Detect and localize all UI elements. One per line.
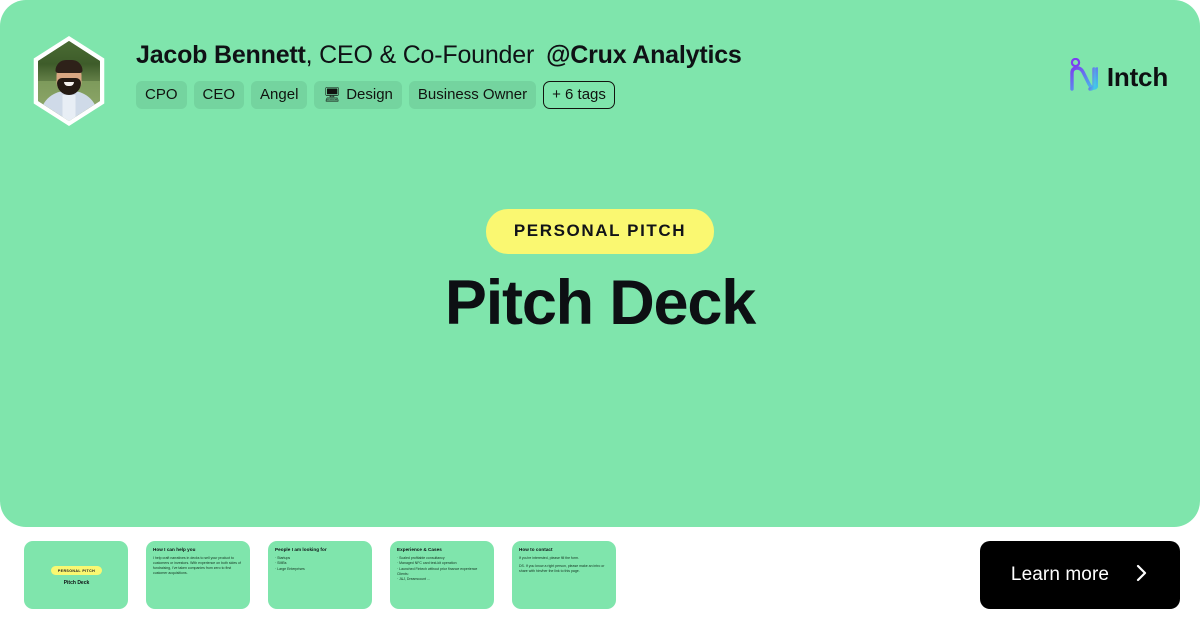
thumbnail-cover-content: PERSONAL PITCH Pitch Deck [31,547,122,605]
thumbnail-bullet: · J&J, Dreamcount ... [397,577,488,582]
profile-header: Jacob Bennett, CEO & Co-Founder@Crux Ana… [28,36,742,126]
profile-name-line: Jacob Bennett, CEO & Co-Founder@Crux Ana… [136,42,742,70]
tag-business-owner[interactable]: Business Owner [409,81,536,109]
tag-label: Angel [260,87,298,102]
computer-icon: 🖥 [323,87,341,101]
thumbnail-bullet-label: Managed NFC card test-kit operation [399,561,456,565]
personal-pitch-badge: PERSONAL PITCH [486,209,714,254]
intch-n-logo-icon [1068,58,1098,97]
brand-name: Intch [1107,62,1168,93]
tag-label: CPO [145,87,178,102]
profile-role: , CEO & Co-Founder [306,41,534,69]
avatar-hair-icon [56,60,83,73]
more-tags-button[interactable]: + 6 tags [543,81,615,109]
learn-more-button[interactable]: Learn more [980,541,1180,609]
thumbnail-bullet-label: Scaled profitable consultancy [399,556,445,560]
profile-name: Jacob Bennett [136,41,306,69]
hero-card: Jacob Bennett, CEO & Co-Founder@Crux Ana… [0,0,1200,527]
avatar[interactable] [28,36,110,126]
learn-more-label: Learn more [1011,564,1109,586]
slide-thumbnail-people-looking-for[interactable]: People I am looking for · Startups · SMB… [268,541,372,609]
thumbnail-bullet-label: J&J, Dreamcount ... [399,577,430,581]
profile-tag-list: CPO CEO Angel 🖥 Design Business Owner + … [136,81,742,109]
thumbnail-paragraph: If you're interested, please fill the fo… [519,556,610,561]
thumbnail-bullet: · Large Enterprises [275,567,366,572]
thumbnail-heading: How I can help you [153,547,244,553]
tag-label: Design [346,87,393,102]
thumbnail-bullet-label: Clients: [397,572,409,576]
avatar-hex-frame [28,36,110,126]
thumbnail-bullet: · Launched Fintech without prior finance… [397,567,488,572]
thumbnail-bullet-label: SMBs [277,561,286,565]
page-title: Pitch Deck [0,270,1200,336]
tag-ceo[interactable]: CEO [194,81,245,109]
profile-company[interactable]: @Crux Analytics [546,41,742,69]
slide-thumbnail-experience-cases[interactable]: Experience & Cases · Scaled profitable c… [390,541,494,609]
thumbnail-heading: How to contact [519,547,610,553]
thumbnail-heading: Experience & Cases [397,547,488,553]
slide-thumbnail-strip: PERSONAL PITCH Pitch Deck How I can help… [24,541,616,609]
tag-cpo[interactable]: CPO [136,81,187,109]
avatar-photo [33,41,105,121]
profile-header-text: Jacob Bennett, CEO & Co-Founder@Crux Ana… [136,36,742,109]
thumbnail-title: Pitch Deck [64,580,90,586]
slide-thumbnail-how-i-can-help[interactable]: How I can help you I help craft narrativ… [146,541,250,609]
thumbnail-bullet-label: Large Enterprises [277,567,305,571]
thumbnail-bullet-label: Startups [277,556,290,560]
slide-thumbnail-how-to-contact[interactable]: How to contact If you're interested, ple… [512,541,616,609]
thumbnail-paragraph: I help craft narratives in decks to sell… [153,556,244,577]
hero-center: PERSONAL PITCH Pitch Deck [0,209,1200,336]
thumbnail-badge: PERSONAL PITCH [51,566,102,575]
thumbnail-bullet-label: Launched Fintech without prior finance e… [399,567,477,571]
chevron-right-icon [1135,563,1149,587]
thumbnail-heading: People I am looking for [275,547,366,553]
tag-label: Business Owner [418,87,527,102]
thumbnail-paragraph: DS. If you know a right person, please m… [519,564,610,575]
tag-design[interactable]: 🖥 Design [314,81,401,109]
slide-thumbnail-cover[interactable]: PERSONAL PITCH Pitch Deck [24,541,128,609]
brand-logo[interactable]: Intch [1068,58,1168,97]
tag-label: CEO [203,87,236,102]
tag-angel[interactable]: Angel [251,81,307,109]
